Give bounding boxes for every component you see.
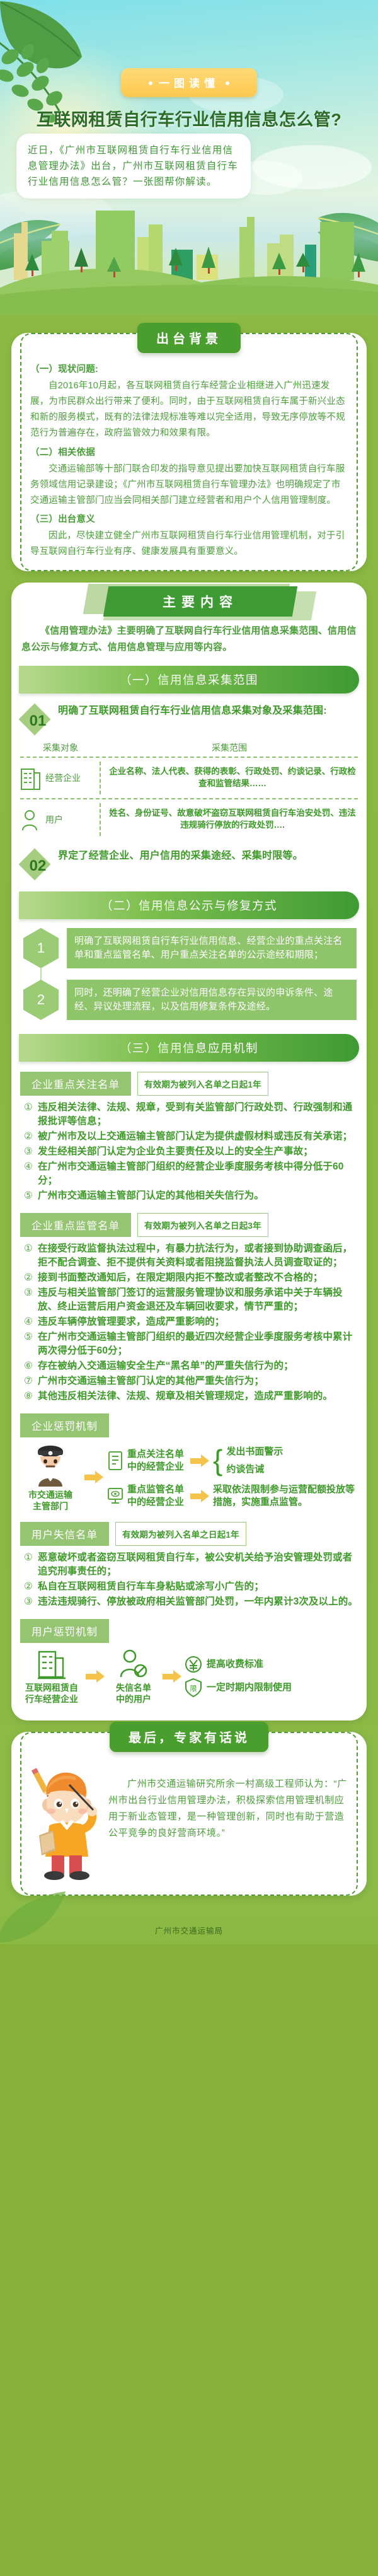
user-blacklist-tag: 用户失信名单 xyxy=(20,1522,109,1546)
background-card: 出台背景 （一）现状问题: 自2016年10月起，各互联网租赁自行车经营企业相继… xyxy=(11,333,367,571)
enterprise-watchlist-header: 企业重点关注名单 有效期为被列入名单之日起1年 xyxy=(20,1072,358,1096)
user-blacklist-header: 用户失信名单 有效期为被列入名单之日起1年 xyxy=(20,1522,358,1546)
arrow-icon xyxy=(86,1670,105,1683)
enterprise-supervision-validity: 有效期为被列入名单之日起3年 xyxy=(137,1213,268,1237)
enterprise-watchlist-validity: 有效期为被列入名单之日起1年 xyxy=(137,1072,268,1096)
background-subtitle-1: （一）现状问题: xyxy=(30,362,348,378)
expert-quote: 广州市交通运输研究所余一村高级工程师认为：“广州市出台行业信用管理办法，积极探索… xyxy=(108,1761,348,1842)
infographic-page: 一图读懂 互联网租赁自行车行业信用信息怎么管? 近日，《广州市互联网租赁自行车行… xyxy=(0,0,378,1944)
officer-icon xyxy=(31,1442,70,1487)
enterprise-penalty-tag: 企业惩罚机制 xyxy=(20,1413,109,1437)
section-3-title: （三）信用信息应用机制 xyxy=(19,1034,359,1062)
table-row: 经营企业 企业名称、法人代表、获得的表彰、行政处罚、约谈记录、行政检查和监管结果… xyxy=(20,757,358,798)
user-penalty-header: 用户惩罚机制 xyxy=(20,1619,358,1643)
item-02-text: 界定了经营企业、用户信用的采集途经、采集时限等。 xyxy=(58,846,303,863)
document-icon xyxy=(107,1451,123,1471)
list-item: ⑧其他违反相关法律、法规、规章及相关管理规定，造成严重影响的。 xyxy=(20,1390,358,1403)
section-header-1: （一）信用信息采集范围 xyxy=(19,666,359,693)
city-skyline-illustration xyxy=(0,195,378,315)
list-item: ②接到书面整改通知后，在限定期限内拒不整改或者整改不合格的； xyxy=(20,1271,358,1285)
enterprise-penalty-actor: 市交通运输 主管部门 xyxy=(28,1489,72,1512)
user-penalty-result-fee: 提高收费标准 xyxy=(207,1658,263,1671)
table-row-scope: 企业名称、法人代表、获得的表彰、行政处罚、约谈记录、行政检查和监管结果…… xyxy=(101,766,358,790)
table-col-header-subject: 采集对象 xyxy=(20,741,101,754)
hex-number-1: 1 xyxy=(23,928,59,968)
hex-text-1: 明确了互联网租赁自行车行业信用信息、经营企业的重点关注名单和重点监管名单、用户重… xyxy=(67,928,357,968)
item-02-row: 02 界定了经营企业、用户信用的采集途经、采集时限等。 xyxy=(18,846,358,881)
list-item: ⑤在广州市交通运输主管部门组织的最近四次经营企业季度服务考核中累计两次得分低于6… xyxy=(20,1330,358,1358)
penalty-result-supervision: 采取依法限制参与运营配额投放等措施，实施重点监管。 xyxy=(213,1483,358,1509)
main-intro-text: 《信用管理办法》主要明确了互联网自行车行业信用信息采集范围、信用信息公示与修复方… xyxy=(21,623,357,656)
enterprise-watchlist-items: ①违反相关法律、法规、规章，受到有关监管部门行政处罚、行政强制和通报批评等信息；… xyxy=(20,1101,358,1203)
enterprise-watchlist-tag: 企业重点关注名单 xyxy=(20,1072,131,1096)
item-01-text: 明确了互联网租赁自行车行业信用信息采集对象及采集范围: xyxy=(58,701,327,718)
list-item: ③违法违规骑行、停放被政府相关监管部门处罚，一年内累计3次及以上的。 xyxy=(20,1595,358,1609)
main-content-ribbon: 主要内容 xyxy=(11,583,367,619)
user-icon xyxy=(20,807,42,832)
background-text-2: 交通运输部等十部门联合印发的指导意见提出要加快互联网租赁自行车服务领域信用记录建… xyxy=(30,461,348,509)
list-item: ③违反与相关监管部门签订的运营服务管理协议和服务承诺中关于车辆投放、终止运营后用… xyxy=(20,1286,358,1314)
background-subtitle-2: （二）相关依据 xyxy=(30,445,348,461)
penalty-result-interview: 约谈告诫 xyxy=(226,1463,283,1476)
user-penalty-flow: 互联网租赁自 行车经营企业 失信名单 中的用户 xyxy=(20,1648,358,1705)
enterprise-penalty-flow: 市交通运输 主管部门 重点关注名单 中的经营企业 { xyxy=(20,1442,358,1512)
user-penalty-step-1: 互联网租赁自 行车经营企业 xyxy=(25,1682,78,1705)
list-item: ⑥存在被纳入交通运输安全生产“黑名单”的严重失信行为的； xyxy=(20,1359,358,1373)
leaf-decoration-icon xyxy=(0,1888,72,1944)
content-band: 出台背景 （一）现状问题: 自2016年10月起，各互联网租赁自行车经营企业相继… xyxy=(0,315,378,1918)
table-row-scope: 姓名、身份证号、故意破坏盗窃互联网租赁自行车治安处罚、违法违规骑行停放的行政处罚… xyxy=(101,808,358,832)
penalty-result-warning: 发出书面警示 xyxy=(226,1446,283,1458)
penalty-target-watchlist: 重点关注名单 中的经营企业 xyxy=(127,1448,186,1474)
list-item: ②被广州市及以上交通运输主管部门认定为提供虚假材料或违反有关承诺； xyxy=(20,1130,358,1144)
list-item: ①在接受行政监督执法过程中，有暴力抗法行为，或者接到协助调查函后，拒不配合调查、… xyxy=(20,1242,358,1270)
hex-number-2: 2 xyxy=(23,980,59,1020)
section-2-title: （二）信用信息公示与修复方式 xyxy=(19,891,359,919)
background-text-1: 自2016年10月起，各互联网租赁自行车经营企业相继进入广州迅速发展，为市民群众… xyxy=(30,378,348,441)
lead-text: 近日，《广州市互联网租赁自行车行业信用信息管理办法》出台，广州市互联网租赁自行车… xyxy=(28,142,239,190)
hex-item-2: 2 同时，还明确了经营企业对信用信息存在异议的申诉条件、途经、异议处理流程，以及… xyxy=(21,980,357,1020)
table-row-subject: 经营企业 xyxy=(45,772,81,784)
enterprise-supervision-items: ①在接受行政监督执法过程中，有暴力抗法行为，或者接到协助调查函后，拒不配合调查、… xyxy=(20,1242,358,1403)
background-dashed-frame: 出台背景 （一）现状问题: 自2016年10月起，各互联网租赁自行车经营企业相继… xyxy=(20,333,358,571)
main-content-card: 主要内容 《信用管理办法》主要明确了互联网自行车行业信用信息采集范围、信用信息公… xyxy=(11,583,367,1720)
background-text-3: 因此，尽快建立健全广州市互联网租赁自行车行业信用管理机制，对于引导互联网自行车行… xyxy=(30,528,348,560)
list-item: ①违反相关法律、法规、规章，受到有关监管部门行政处罚、行政强制和通报批评等信息； xyxy=(20,1101,358,1128)
arrow-icon xyxy=(190,1454,209,1467)
enterprise-penalty-header: 企业惩罚机制 xyxy=(20,1413,358,1437)
expert-card: 最后，专家有话说 xyxy=(11,1732,367,1896)
read-in-one-picture-badge: 一图读懂 xyxy=(121,68,257,97)
list-item: ③发生经相关部门认定为企业负主要责任及以上的安全生产事故； xyxy=(20,1145,358,1159)
table-col-header-scope: 采集范围 xyxy=(101,741,358,754)
section-header-2: （二）信用信息公示与修复方式 xyxy=(19,891,359,919)
expert-character-illustration xyxy=(30,1761,105,1881)
user-penalty-tag: 用户惩罚机制 xyxy=(20,1619,109,1643)
badge-label: 一图读懂 xyxy=(159,78,219,90)
arrow-icon xyxy=(190,1490,209,1502)
expert-title: 最后，专家有话说 xyxy=(110,1722,268,1752)
hex-item-1: 1 明确了互联网租赁自行车行业信用信息、经营企业的重点关注名单和重点监管名单、用… xyxy=(21,928,357,968)
building-icon xyxy=(20,765,42,791)
main-content-title: 主要内容 xyxy=(163,592,238,611)
background-subtitle-3: （三）出台意义 xyxy=(30,512,348,528)
item-02-number: 02 xyxy=(18,847,52,881)
enterprise-supervision-tag: 企业重点监管名单 xyxy=(20,1213,131,1237)
collection-scope-table: 采集对象 采集范围 经营 xyxy=(20,741,358,840)
diamond-02-icon: 02 xyxy=(18,847,52,881)
user-blocked-icon xyxy=(118,1648,149,1680)
background-body: （一）现状问题: 自2016年10月起，各互联网租赁自行车经营企业相继进入广州迅… xyxy=(30,362,348,560)
user-blacklist-items: ①恶意破坏或者盗窃互联网租赁自行车，被公安机关给予治安管理处罚或者追究刑事责任的… xyxy=(20,1551,358,1609)
page-title: 互联网租赁自行车行业信用信息怎么管? xyxy=(0,106,378,131)
arrow-icon xyxy=(163,1670,181,1683)
lead-card: 近日，《广州市互联网租赁自行车行业信用信息管理办法》出台，广州市互联网租赁自行车… xyxy=(16,134,251,199)
list-item: ④违反车辆停放管理要求，造成严重影响的； xyxy=(20,1315,358,1329)
footer: 广州市交通运输局 xyxy=(0,1918,378,1944)
penalty-target-supervision: 重点监管名单 中的经营企业 xyxy=(127,1483,186,1509)
item-01-number: 01 xyxy=(18,702,52,736)
list-item: ⑦广州市交通运输主管部门认定的其他严重失信行为； xyxy=(20,1374,358,1388)
enterprise-supervision-header: 企业重点监管名单 有效期为被列入名单之日起3年 xyxy=(20,1213,358,1237)
list-item: ⑤广州市交通运输主管部门认定的其他相关失信行为。 xyxy=(20,1189,358,1203)
monitor-eye-icon xyxy=(107,1486,123,1506)
list-item: ④在广州市交通运输主管部门组织的经营企业季度服务考核中得分低于60分； xyxy=(20,1160,358,1188)
hero-section: 一图读懂 互联网租赁自行车行业信用信息怎么管? 近日，《广州市互联网租赁自行车行… xyxy=(0,0,378,315)
list-item: ①恶意破坏或者盗窃互联网租赁自行车，被公安机关给予治安管理处罚或者追究刑事责任的… xyxy=(20,1551,358,1579)
yen-icon xyxy=(184,1655,203,1674)
user-penalty-step-2: 失信名单 中的用户 xyxy=(116,1682,151,1705)
brace-icon: { xyxy=(213,1448,222,1473)
expert-dashed-frame: 最后，专家有话说 xyxy=(20,1732,358,1896)
table-row: 用户 姓名、身份证号、故意破坏盗窃互联网租赁自行车治安处罚、违法违规骑行停放的行… xyxy=(20,798,358,840)
svg-text:限: 限 xyxy=(190,1685,197,1693)
footer-source: 广州市交通运输局 xyxy=(155,1927,223,1935)
item-01-row: 01 明确了互联网租赁自行车行业信用信息采集对象及采集范围: xyxy=(18,701,358,736)
limit-shield-icon: 限 xyxy=(184,1678,203,1698)
user-blacklist-validity: 有效期为被列入名单之日起1年 xyxy=(115,1522,246,1546)
building-icon xyxy=(37,1648,67,1680)
hex-text-2: 同时，还明确了经营企业对信用信息存在异议的申诉条件、途经、异议处理流程，以及信用… xyxy=(67,980,357,1020)
section-1-title: （一）信用信息采集范围 xyxy=(19,666,359,693)
diamond-01-icon: 01 xyxy=(18,702,52,736)
section-header-3: （三）信用信息应用机制 xyxy=(19,1034,359,1062)
background-title: 出台背景 xyxy=(137,323,241,353)
arrow-icon xyxy=(84,1471,103,1483)
user-penalty-result-limit: 一定时期内限制使用 xyxy=(207,1681,292,1694)
list-item: ②私自在互联网租赁自行车车身粘贴或涂写小广告的； xyxy=(20,1580,358,1594)
table-row-subject: 用户 xyxy=(45,813,63,826)
